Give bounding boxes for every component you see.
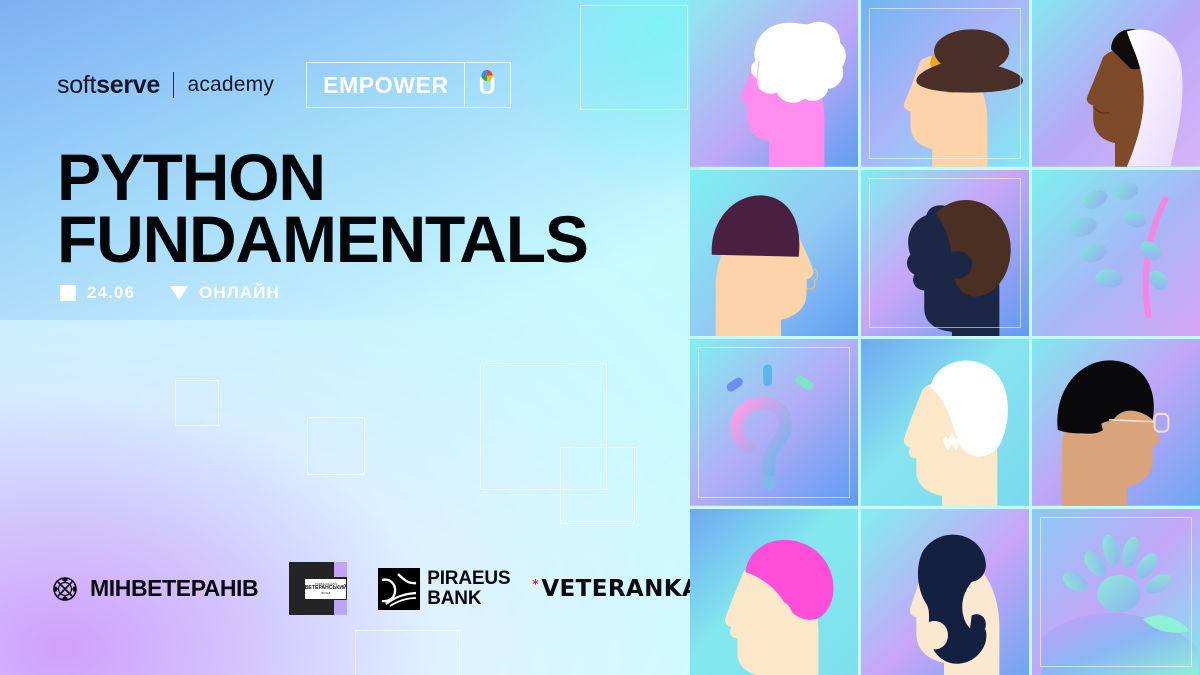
grid-cell-portrait-afro-navy	[861, 170, 1029, 337]
grid-cell-portrait-black-hair-glasses	[1032, 339, 1200, 506]
ministry-emblem-icon	[50, 574, 80, 604]
empower-wordmark: EMPOWER	[323, 72, 464, 99]
uvf-line-3: ФОНД	[321, 592, 330, 595]
softserve-academy-logo: softserve academy	[57, 71, 274, 100]
grid-cell-portrait-pink-hair	[690, 509, 858, 675]
veteranka-wordmark: *VETERANKA	[541, 576, 700, 602]
academy-label: academy	[187, 73, 274, 97]
event-date-label: 24.06	[87, 283, 135, 303]
piraeus-line-2: BANK	[427, 589, 510, 608]
sponsor-minveteraniv: МІНВЕТЕРАНІВ	[50, 574, 258, 604]
grid-cell-portrait-brown-hat	[861, 0, 1029, 167]
piraeus-wave-icon	[378, 568, 420, 610]
sponsor-piraeus-bank: PIRAEUS BANK	[378, 568, 510, 610]
veteranka-accent-icon: *	[532, 577, 539, 591]
event-format: ОНЛАЙН	[170, 283, 280, 303]
empower-u-badge: U	[464, 63, 510, 107]
decorative-square	[355, 630, 460, 675]
decorative-square	[580, 5, 688, 110]
event-date: 24.06	[60, 283, 135, 303]
page-title: PYTHON FUNDAMENTALS	[57, 146, 588, 270]
grid-cell-portrait-white-curly-hair	[690, 0, 858, 167]
softserve-wordmark: softserve	[57, 71, 160, 100]
piraeus-line-1: PIRAEUS	[427, 569, 510, 588]
header-logos: softserve academy EMPOWER U	[57, 62, 511, 108]
grid-cell-abstract-leaf-branch	[1032, 170, 1200, 337]
grid-cell-portrait-bearded-man	[861, 509, 1029, 675]
poster-canvas: softserve academy EMPOWER U PYTHON FUNDA…	[0, 0, 1200, 675]
grid-cell-abstract-question-mark	[690, 339, 858, 506]
softserve-serve: serve	[96, 71, 160, 99]
veteranka-label: VETERANKA	[541, 576, 700, 602]
decorative-square	[307, 417, 365, 475]
piraeus-wordmark: PIRAEUS BANK	[427, 569, 510, 608]
uvf-mark: УКРАЇНСЬКИЙ ВЕТЕРАНСЬКИЙ ФОНД	[289, 562, 347, 615]
title-line-2: FUNDAMENTALS	[57, 208, 588, 270]
sponsor-veteranka: *VETERANKA	[541, 576, 700, 602]
sponsor-ukrainian-veterans-fund: УКРАЇНСЬКИЙ ВЕТЕРАНСЬКИЙ ФОНД	[289, 562, 347, 615]
logo-divider	[173, 72, 175, 98]
empower-u-logo: EMPOWER U	[306, 62, 511, 108]
portrait-grid	[690, 0, 1200, 675]
grid-cell-portrait-white-headscarf	[1032, 0, 1200, 167]
uvf-card: УКРАЇНСЬКИЙ ВЕТЕРАНСЬКИЙ ФОНД	[305, 579, 346, 599]
decorative-square	[175, 380, 219, 426]
grid-cell-abstract-plant-sun	[1032, 509, 1200, 675]
sponsor-minveteraniv-label: МІНВЕТЕРАНІВ	[90, 575, 258, 602]
background-tint-purple	[0, 345, 520, 675]
grid-cell-portrait-white-short-hair	[861, 339, 1029, 506]
decorative-square	[560, 447, 635, 524]
event-meta: 24.06 ОНЛАЙН	[60, 283, 280, 303]
softserve-soft: soft	[57, 71, 96, 99]
square-icon	[60, 285, 76, 301]
triangle-down-icon	[170, 286, 188, 300]
grid-cell-portrait-maroon-hair	[690, 170, 858, 337]
google-color-dot-icon	[482, 70, 493, 81]
event-format-label: ОНЛАЙН	[199, 283, 280, 303]
